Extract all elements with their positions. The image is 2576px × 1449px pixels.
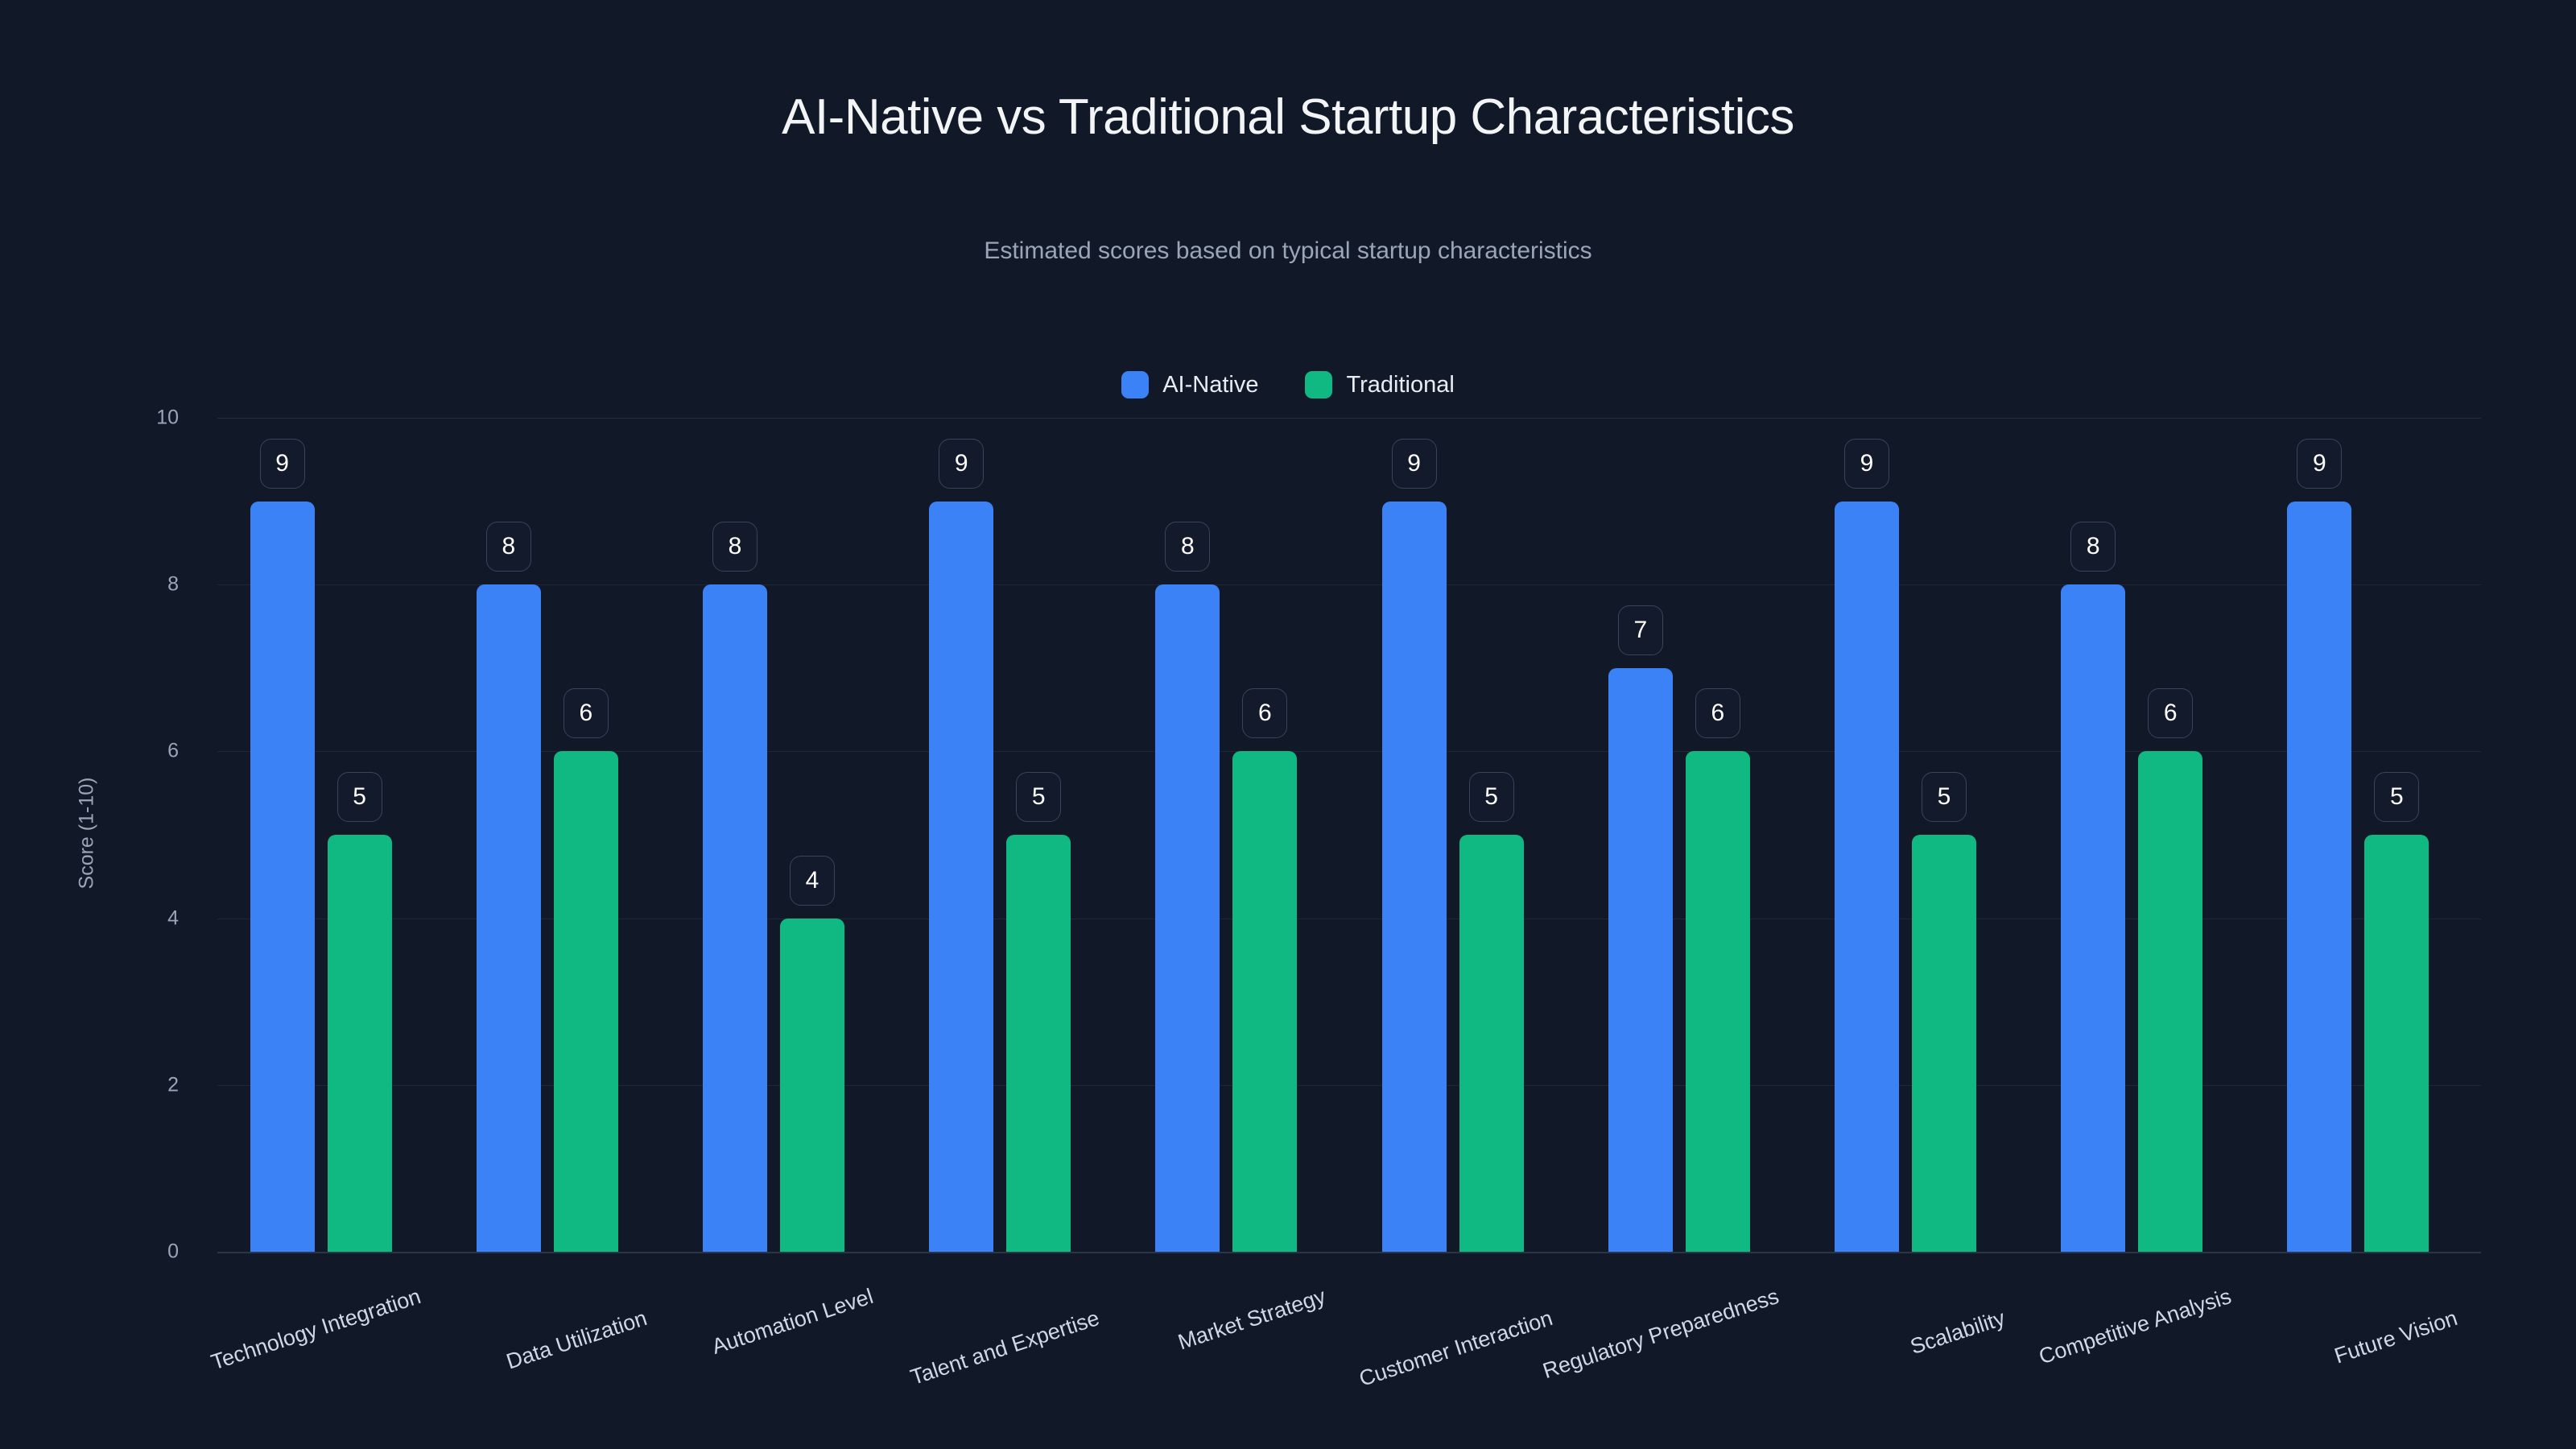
bar-value-badge: 6 [1695,688,1740,738]
legend-label-ai-native: AI-Native [1162,372,1258,398]
x-tick-label: Competitive Analysis [2036,1284,2234,1369]
x-axis-tick-labels: Technology IntegrationData UtilizationAu… [217,1252,2481,1449]
bar-ai-native[interactable] [1608,668,1673,1252]
bar-ai-native[interactable] [250,502,315,1252]
y-axis-tick-labels: 0246810 [0,418,201,1252]
bar-ai-native[interactable] [477,584,541,1252]
y-tick-label: 4 [167,906,179,930]
bar-value-badge: 5 [1469,772,1514,822]
bar-value-badge: 5 [1922,772,1967,822]
chart-legend: AI-Native Traditional [0,366,2576,403]
x-tick-label: Talent and Expertise [908,1306,1103,1390]
bar-traditional[interactable] [1459,835,1524,1252]
legend-item-traditional[interactable]: Traditional [1305,371,1454,398]
bar-value-badge: 4 [790,856,835,906]
y-tick-label: 10 [156,407,179,430]
bar-ai-native[interactable] [2287,502,2351,1252]
bar-value-badge: 6 [2148,688,2193,738]
bar-ai-native[interactable] [1382,502,1447,1252]
y-tick-label: 8 [167,573,179,597]
bar-value-badge: 6 [563,688,609,738]
legend-swatch-traditional [1305,371,1332,398]
legend-item-ai-native[interactable]: AI-Native [1121,371,1258,398]
gridline [217,418,2481,419]
bar-value-badge: 8 [1165,522,1210,572]
bar-value-badge: 6 [1242,688,1287,738]
bar-traditional[interactable] [2138,751,2202,1252]
chart-title: AI-Native vs Traditional Startup Charact… [0,89,2576,146]
bar-traditional[interactable] [1232,751,1297,1252]
y-tick-label: 2 [167,1073,179,1096]
bar-value-badge: 8 [486,522,531,572]
x-tick-label: Future Vision [2332,1306,2461,1368]
bar-ai-native[interactable] [2061,584,2125,1252]
x-tick-label: Scalability [1907,1306,2008,1360]
bar-traditional[interactable] [2364,835,2429,1252]
bar-value-badge: 5 [337,772,382,822]
bar-value-badge: 5 [2374,772,2419,822]
bar-ai-native[interactable] [1835,502,1899,1252]
bar-value-badge: 9 [1844,439,1889,489]
x-tick-label: Data Utilization [503,1306,650,1375]
plot-area: 95868495869576958695 [217,418,2481,1252]
bar-value-badge: 9 [2297,439,2342,489]
bar-ai-native[interactable] [703,584,767,1252]
gridline [217,584,2481,585]
x-tick-label: Customer Interaction [1356,1306,1555,1392]
bar-value-badge: 9 [260,439,305,489]
bar-traditional[interactable] [780,919,844,1252]
bar-ai-native[interactable] [1155,584,1220,1252]
legend-swatch-ai-native [1121,371,1149,398]
bar-traditional[interactable] [1686,751,1750,1252]
legend-label-traditional: Traditional [1346,372,1454,398]
x-tick-label: Market Strategy [1175,1284,1329,1355]
bar-value-badge: 8 [712,522,758,572]
bar-value-badge: 9 [1392,439,1437,489]
bar-value-badge: 5 [1016,772,1061,822]
bar-traditional[interactable] [328,835,392,1252]
bar-value-badge: 9 [939,439,984,489]
x-tick-label: Technology Integration [208,1284,423,1375]
bar-traditional[interactable] [554,751,618,1252]
y-tick-label: 0 [167,1241,179,1264]
bar-value-badge: 8 [2070,522,2116,572]
bar-traditional[interactable] [1912,835,1976,1252]
x-tick-label: Automation Level [709,1284,877,1360]
chart-subtitle: Estimated scores based on typical startu… [0,237,2576,265]
bar-ai-native[interactable] [929,502,993,1252]
x-tick-label: Regulatory Preparedness [1540,1284,1782,1384]
bar-traditional[interactable] [1006,835,1071,1252]
bar-value-badge: 7 [1618,605,1663,655]
y-tick-label: 6 [167,740,179,763]
